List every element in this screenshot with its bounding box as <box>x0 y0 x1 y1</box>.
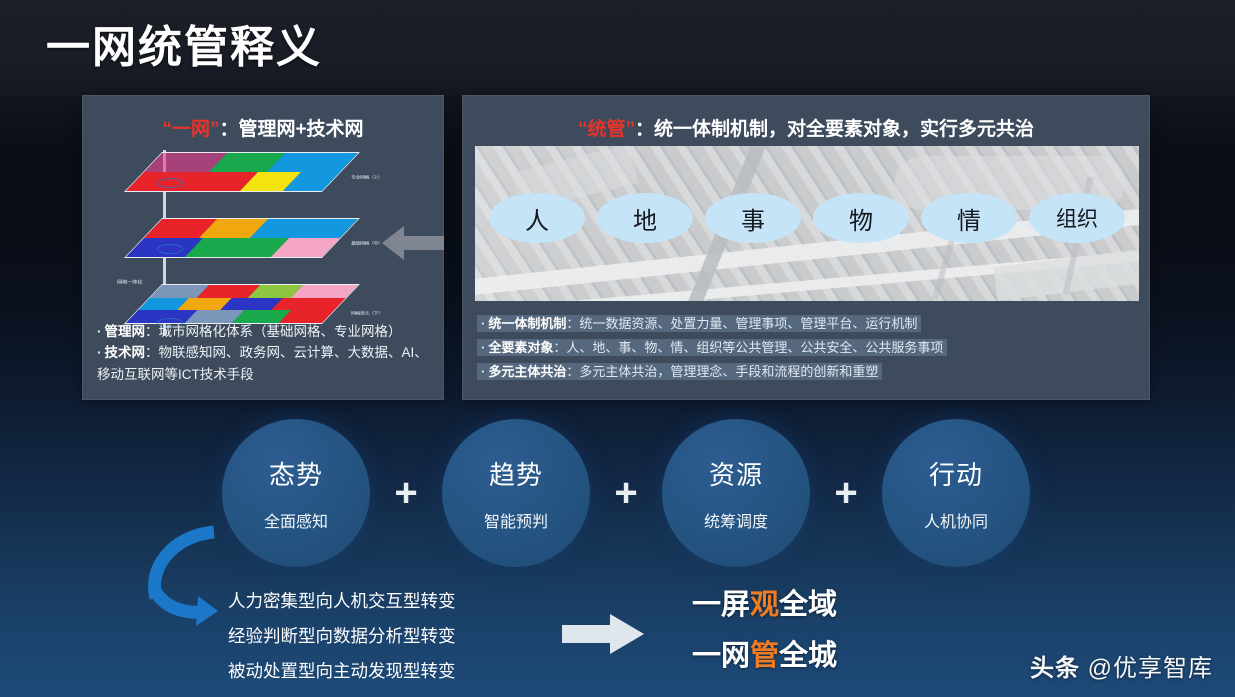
grid-layer-middle-marker <box>157 244 183 254</box>
ellipse-event[interactable]: 事 <box>705 193 801 243</box>
transformation-line-1: 人力密集型向人机交互型转变 <box>228 584 456 619</box>
right-bullet-row-1: 统一体制机制：统一数据资源、处置力量、管理事项、管理平台、运行机制 <box>477 315 1139 336</box>
left-bullet-1: 管理网：城市网格化体系（基础网格、专业网格） <box>97 321 435 342</box>
capability-circle-row: 态势 全面感知 + 趋势 智能预判 + 资源 统筹调度 + 行动 人机协同 <box>222 418 1032 568</box>
circle-trend-subtitle: 智能预判 <box>484 508 548 532</box>
circle-action-subtitle: 人机协同 <box>924 508 988 532</box>
left-panel-bullets: 管理网：城市网格化体系（基础网格、专业网格） 技术网：物联感知网、政务网、云计算… <box>97 321 435 385</box>
circle-situation-subtitle: 全面感知 <box>264 508 328 532</box>
circle-action[interactable]: 行动 人机协同 <box>882 419 1030 567</box>
arrow-right-icon <box>562 612 644 656</box>
transformation-line-2: 经验判断型向数据分析型转变 <box>228 619 456 654</box>
transformation-line-3: 被动处置型向主动发现型转变 <box>228 654 456 689</box>
circle-action-title: 行动 <box>929 455 983 492</box>
ellipse-object[interactable]: 物 <box>813 193 909 243</box>
right-bullet-3: 多元主体共治：多元主体共治，管理理念、手段和流程的创新和重塑 <box>477 363 882 380</box>
left-bullet-2: 技术网：物联感知网、政务网、云计算、大数据、AI、移动互联网等ICT技术手段 <box>97 342 435 385</box>
grid-layer-bottom-plate <box>124 284 360 324</box>
right-bullet-row-3: 多元主体共治：多元主体共治，管理理念、手段和流程的创新和重塑 <box>477 363 1139 384</box>
grid-layer-top-marker <box>157 178 183 188</box>
slogan-line-1: 一屏观全域 <box>692 580 837 631</box>
slide-canvas: 一网统管释义 “一网”：管理网+技术网 专业网格（上） <box>0 0 1235 697</box>
watermark-brand: 头条 <box>1030 655 1080 682</box>
transformation-list: 人力密集型向人机交互型转变 经验判断型向数据分析型转变 被动处置型向主动发现型转… <box>228 584 456 689</box>
ellipse-situation[interactable]: 情 <box>921 193 1017 243</box>
right-bullet-row-2: 全要素对象：人、地、事、物、情、组织等公共管理、公共安全、公共服务事项 <box>477 339 1139 360</box>
slogan-group: 一屏观全域 一网管全城 <box>692 580 837 682</box>
left-panel-heading-rest: ：管理网+技术网 <box>219 119 363 140</box>
plus-sign-2: + <box>590 473 662 513</box>
ellipse-person[interactable]: 人 <box>489 193 585 243</box>
grid-axis-label: 网格一体化 <box>117 279 142 285</box>
right-bullet-1: 统一体制机制：统一数据资源、处置力量、管理事项、管理平台、运行机制 <box>477 315 921 332</box>
circle-resource-title: 资源 <box>709 455 763 492</box>
plus-sign-3: + <box>810 473 882 513</box>
watermark: 头条 @优享智库 <box>1030 648 1213 683</box>
ellipse-place[interactable]: 地 <box>597 193 693 243</box>
watermark-handle: @优享智库 <box>1088 655 1213 682</box>
right-panel-heading-quote: “统管” <box>578 119 635 140</box>
right-panel-heading: “统管”：统一体制机制，对全要素对象，实行多元共治 <box>463 96 1149 141</box>
right-bullet-2: 全要素对象：人、地、事、物、情、组织等公共管理、公共安全、公共服务事项 <box>477 339 947 356</box>
arrow-left-icon <box>382 222 444 264</box>
ellipse-organization[interactable]: 组织 <box>1029 193 1125 243</box>
circle-resource[interactable]: 资源 统筹调度 <box>662 419 810 567</box>
city-map-background: 人 地 事 物 情 组织 <box>475 146 1139 301</box>
left-panel-heading: “一网”：管理网+技术网 <box>83 96 443 141</box>
page-title: 一网统管释义 <box>46 26 322 70</box>
circle-trend-title: 趋势 <box>489 455 543 492</box>
element-ellipse-row: 人 地 事 物 情 组织 <box>475 188 1139 248</box>
slogan-line-2: 一网管全城 <box>692 631 837 682</box>
circle-trend[interactable]: 趋势 智能预判 <box>442 419 590 567</box>
right-panel-bullets: 统一体制机制：统一数据资源、处置力量、管理事项、管理平台、运行机制 全要素对象：… <box>477 315 1139 387</box>
panel-unified-management: “统管”：统一体制机制，对全要素对象，实行多元共治 人 地 事 物 情 组织 <box>462 95 1150 400</box>
circle-situation-title: 态势 <box>269 455 323 492</box>
circle-resource-subtitle: 统筹调度 <box>704 508 768 532</box>
right-panel-heading-rest: ：统一体制机制，对全要素对象，实行多元共治 <box>635 119 1034 140</box>
left-panel-heading-quote: “一网” <box>162 119 219 140</box>
plus-sign-1: + <box>370 473 442 513</box>
